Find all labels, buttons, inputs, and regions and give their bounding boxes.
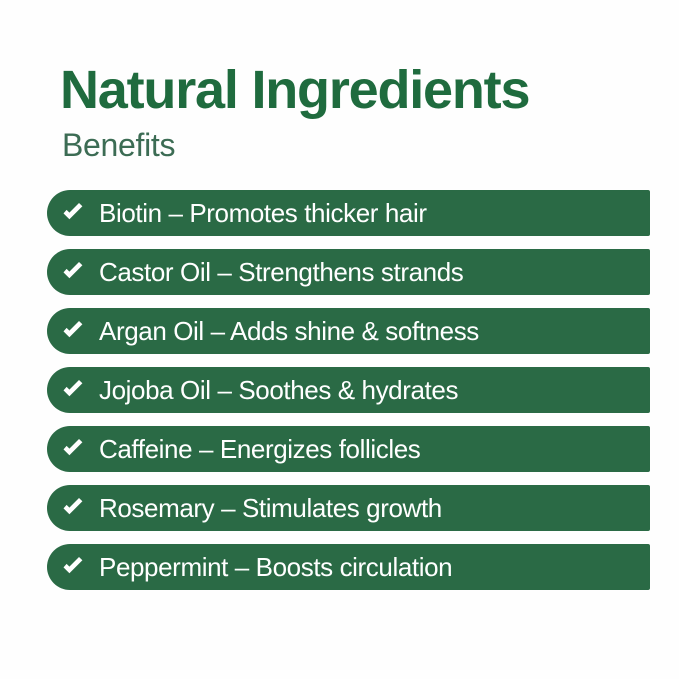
benefits-list: Biotin – Promotes thicker hair Castor Oi… — [47, 190, 650, 590]
list-item-label: Caffeine – Energizes follicles — [99, 434, 420, 464]
check-icon — [58, 316, 88, 346]
list-item: Jojoba Oil – Soothes & hydrates — [47, 367, 650, 413]
list-item: Argan Oil – Adds shine & softness — [47, 308, 650, 354]
list-item: Caffeine – Energizes follicles — [47, 426, 650, 472]
list-item: Rosemary – Stimulates growth — [47, 485, 650, 531]
list-item: Biotin – Promotes thicker hair — [47, 190, 650, 236]
list-item-label: Biotin – Promotes thicker hair — [99, 198, 427, 228]
list-item: Castor Oil – Strengthens strands — [47, 249, 650, 295]
check-icon — [58, 257, 88, 287]
list-item-label: Castor Oil – Strengthens strands — [99, 257, 463, 287]
page-subtitle: Benefits — [62, 126, 660, 164]
list-item-label: Rosemary – Stimulates growth — [99, 493, 442, 523]
check-icon — [58, 493, 88, 523]
check-icon — [58, 198, 88, 228]
list-item-label: Peppermint – Boosts circulation — [99, 552, 452, 582]
page-title: Natural Ingredients — [60, 60, 660, 120]
list-item-label: Argan Oil – Adds shine & softness — [99, 316, 479, 346]
check-icon — [58, 375, 88, 405]
ingredients-benefits-poster: Natural Ingredients Benefits Biotin – Pr… — [0, 0, 679, 679]
list-item-label: Jojoba Oil – Soothes & hydrates — [99, 375, 458, 405]
poster-header: Natural Ingredients Benefits — [60, 60, 660, 164]
check-icon — [58, 552, 88, 582]
list-item: Peppermint – Boosts circulation — [47, 544, 650, 590]
check-icon — [58, 434, 88, 464]
